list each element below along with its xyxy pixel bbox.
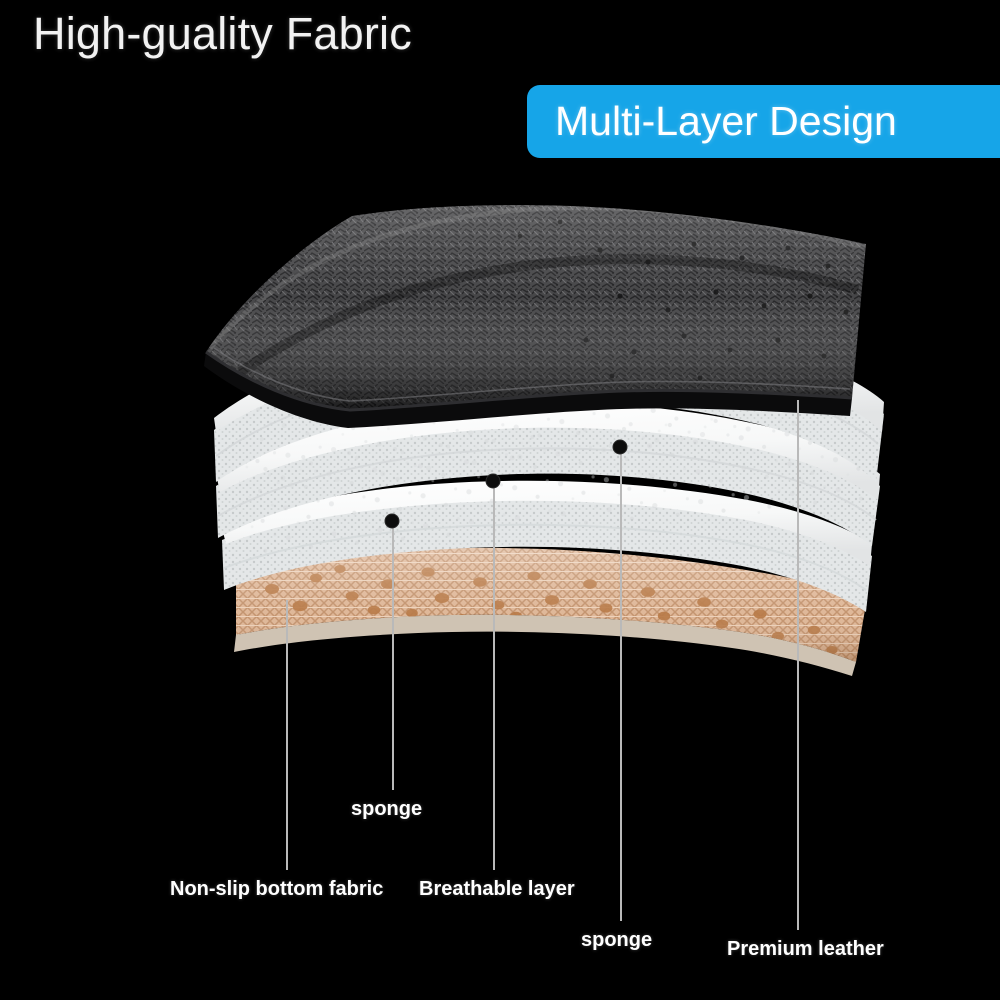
callout-label-sponge-lower: sponge <box>581 929 652 952</box>
callout-line-premium-leather <box>797 400 799 930</box>
callout-line-breathable-layer <box>493 487 495 870</box>
insole-layer-illustration <box>0 0 1000 1000</box>
callout-label-breathable-layer: Breathable layer <box>419 878 575 901</box>
callout-dot-sponge-lower <box>613 440 628 455</box>
callout-dot-breathable-layer <box>486 474 501 489</box>
callout-line-sponge-lower <box>620 453 622 921</box>
layer-premium-leather <box>204 205 868 428</box>
callout-line-non-slip-bottom-fabric <box>286 600 288 870</box>
callout-label-premium-leather: Premium leather <box>727 938 884 961</box>
infographic-page: High-guality Fabric Multi-Layer Design <box>0 0 1000 1000</box>
callout-line-sponge-upper <box>392 527 394 790</box>
callout-label-non-slip-bottom-fabric: Non-slip bottom fabric <box>170 878 383 901</box>
callout-label-sponge-upper: sponge <box>351 798 422 821</box>
callout-dot-sponge-upper <box>385 514 400 529</box>
